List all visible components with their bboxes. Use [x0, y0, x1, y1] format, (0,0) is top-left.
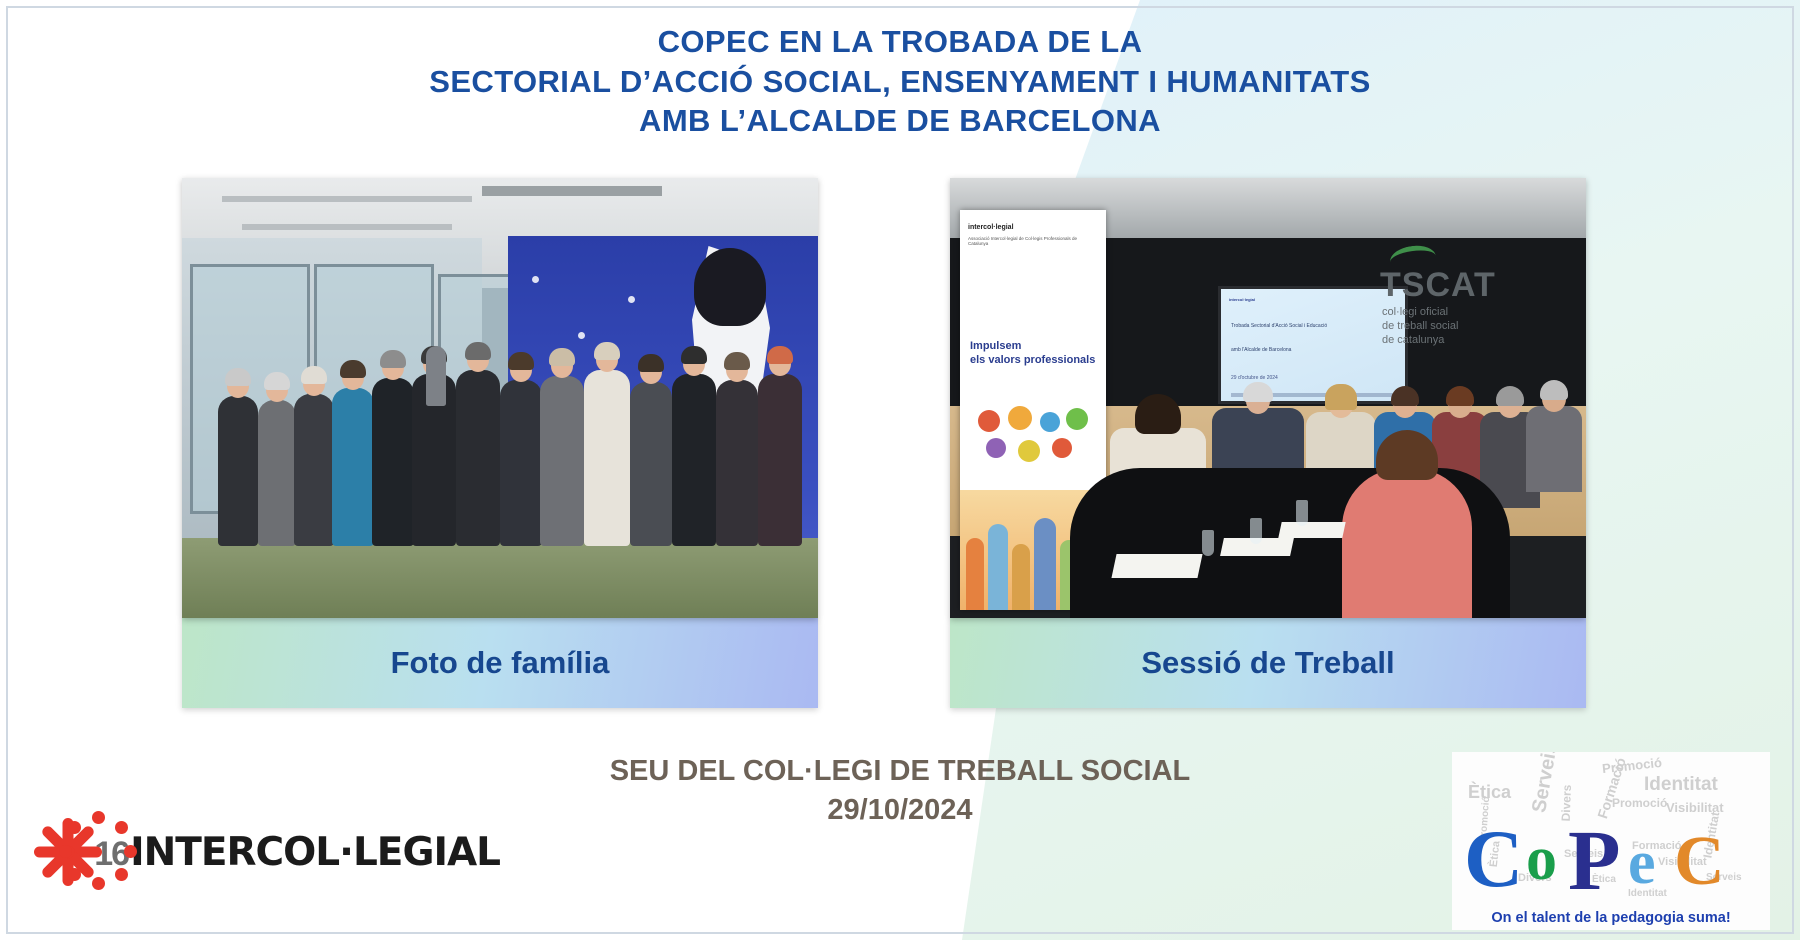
banner-brand: intercol·legial	[968, 224, 1014, 231]
copec-letter-c1: C	[1464, 812, 1523, 906]
copec-tagline: On el talent de la pedagogia suma!	[1452, 910, 1770, 926]
banner-subtitle: Associació Intercol·legial de Col·legis …	[968, 236, 1088, 246]
footer-text: SEU DEL COL·LEGI DE TREBALL SOCIAL 29/10…	[440, 752, 1360, 830]
photo-card-meeting[interactable]: intercol·legial Associació Intercol·legi…	[950, 178, 1586, 708]
tscat-logo: TSCAT col·legi oficial de treball social…	[1376, 250, 1576, 350]
screen-subtitle: amb l'Alcalde de Barcelona	[1231, 347, 1395, 353]
photo-caption-meeting: Sessió de Treball	[950, 618, 1586, 708]
footer-date: 29/10/2024	[440, 791, 1360, 830]
cloud-word: Serveis	[1528, 752, 1563, 815]
logo-wordmark: INTERCOL·LEGIAL	[130, 830, 500, 875]
banner-slogan-1: Impulsem	[970, 340, 1021, 352]
copec-letter-e: e	[1628, 828, 1656, 899]
slide-canvas: COPEC EN LA TROBADA DE LA SECTORIAL D’AC…	[0, 0, 1800, 940]
cloud-word: Identitat	[1644, 774, 1718, 796]
tscat-sub-1: col·legi oficial	[1382, 306, 1448, 318]
title-line-2: SECTORIAL D’ACCIÓ SOCIAL, ENSENYAMENT I …	[0, 62, 1800, 102]
photo-card-family[interactable]: Foto de família	[182, 178, 818, 708]
group-photo-image	[182, 178, 818, 618]
screen-title: Trobada Sectorial d'Acció Social i Educa…	[1231, 323, 1395, 330]
copec-letter-c2: C	[1674, 822, 1725, 902]
tscat-sub-3: de catalunya	[1382, 334, 1444, 346]
meeting-photo-image: intercol·legial Associació Intercol·legi…	[950, 178, 1586, 618]
slide-title: COPEC EN LA TROBADA DE LA SECTORIAL D’AC…	[0, 22, 1800, 141]
title-line-3: AMB L’ALCALDE DE BARCELONA	[0, 101, 1800, 141]
footer-venue: SEU DEL COL·LEGI DE TREBALL SOCIAL	[440, 752, 1360, 791]
asterisk-icon	[60, 813, 76, 891]
tscat-sub-2: de treball social	[1382, 320, 1458, 332]
photo-caption-family: Foto de família	[182, 618, 818, 708]
screen-date: 29 d'octubre de 2024	[1231, 375, 1395, 381]
copec-logo: Promoció Ètica Serveis Identitat Formaci…	[1452, 752, 1770, 930]
banner-slogan-2: els valors professionals	[970, 354, 1095, 366]
tscat-title: TSCAT	[1380, 266, 1496, 305]
intercollegial-logo: 16 INTERCOL·LEGIAL	[60, 812, 500, 892]
title-line-1: COPEC EN LA TROBADA DE LA	[0, 22, 1800, 62]
cloud-word: Promoció	[1612, 796, 1667, 810]
copec-letter-p: P	[1568, 810, 1621, 910]
copec-letter-o: o	[1526, 824, 1557, 895]
